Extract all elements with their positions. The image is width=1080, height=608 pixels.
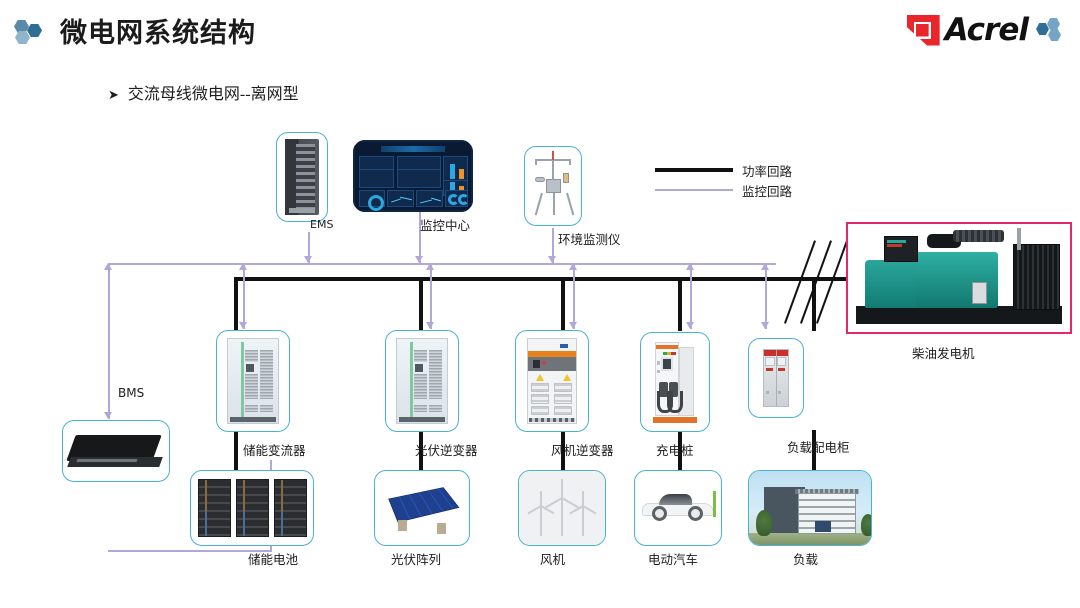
device-monitoring-center[interactable] (353, 140, 473, 212)
pv-inverter-cabinet-icon (396, 338, 448, 424)
caption-pv-inverter: 光伏逆变器 (415, 440, 478, 459)
arrow-windinv-down-icon (569, 322, 577, 329)
diesel-generator-icon (852, 228, 1066, 328)
device-electric-vehicle[interactable] (634, 470, 722, 546)
legend-label-power: 功率回路 (742, 161, 792, 180)
arrow-charger-up-icon (686, 263, 694, 270)
subtitle-text: 交流母线微电网--离网型 (128, 86, 299, 103)
wire-charger-monitor (690, 263, 692, 329)
acrel-mark-icon (907, 15, 940, 46)
pcs-cabinet-icon (227, 338, 279, 424)
slide-root: 微电网系统结构 Acrel ➤交流母线微电网--离网型 功率回路 监控回路 (0, 0, 1080, 608)
caption-ems: EMS (310, 218, 333, 231)
wire-power-charger (678, 277, 682, 331)
caption-wind-inverter: 风机逆变器 (551, 440, 614, 459)
caption-load-cabinet: 负载配电柜 (787, 437, 850, 456)
page-title: 微电网系统结构 (60, 11, 256, 50)
wire-windinv-monitor (573, 263, 575, 329)
legend: 功率回路 监控回路 (655, 160, 792, 200)
caption-battery: 储能电池 (248, 549, 298, 568)
wire-power-loadcab (812, 277, 816, 331)
load-cabinet-icon (763, 349, 789, 407)
arrow-bullet-icon: ➤ (108, 87, 119, 102)
device-battery[interactable] (190, 470, 314, 546)
wire-bms-vertical (108, 263, 110, 419)
acrel-hex-icon (1036, 18, 1062, 42)
device-ems[interactable] (276, 132, 328, 222)
device-charging-pile[interactable] (640, 332, 710, 432)
arrow-charger-down-icon (686, 322, 694, 329)
title-bullet-icon (14, 20, 48, 46)
caption-monitoring-center: 监控中心 (420, 215, 470, 234)
caption-electric-vehicle: 电动汽车 (648, 549, 698, 568)
wind-inverter-cabinet-icon (527, 338, 577, 424)
device-wind-turbine[interactable] (518, 470, 606, 546)
legend-line-power-icon (655, 168, 733, 172)
caption-load-building: 负载 (793, 549, 818, 568)
caption-bms: BMS (118, 386, 144, 400)
arrow-bms-up-icon (104, 263, 112, 270)
monitoring-bus-line (108, 263, 776, 265)
building-icon (749, 471, 871, 545)
arrow-pvinv-down-icon (426, 322, 434, 329)
power-bus-line (234, 277, 814, 281)
device-diesel-generator[interactable] (846, 222, 1072, 334)
arrow-pcs-up-icon (239, 263, 247, 270)
device-pv-array[interactable] (374, 470, 470, 546)
device-wind-inverter[interactable] (515, 330, 589, 432)
legend-line-monitor-icon (655, 189, 733, 191)
section-subtitle: ➤交流母线微电网--离网型 (108, 80, 299, 104)
device-environment-monitor[interactable] (524, 146, 582, 226)
wire-pcs-monitor (243, 263, 245, 329)
device-pv-inverter[interactable] (385, 330, 459, 432)
acrel-wordmark: Acrel (945, 12, 1028, 48)
arrow-windinv-up-icon (569, 263, 577, 270)
legend-label-monitor: 监控回路 (742, 181, 792, 200)
electric-car-icon (642, 493, 714, 523)
wire-power-windinv (561, 277, 565, 331)
wind-turbine-icon (519, 471, 605, 545)
dashboard-screen-icon (353, 140, 473, 212)
arrow-loadcab-up-icon (761, 263, 769, 270)
wire-power-pcs (234, 277, 238, 331)
server-rack-icon (285, 139, 319, 215)
device-bms[interactable] (62, 420, 170, 482)
caption-charging-pile: 充电桩 (656, 440, 694, 459)
arrow-envmon-down-icon (548, 256, 556, 263)
caption-pcs: 储能变流器 (243, 440, 306, 459)
caption-pv-array: 光伏阵列 (391, 549, 441, 568)
wire-pvinv-monitor (430, 263, 432, 329)
caption-diesel-generator: 柴油发电机 (912, 343, 975, 362)
arrow-ems-down-icon (304, 256, 312, 263)
legend-item-monitor: 监控回路 (655, 180, 792, 200)
device-pcs[interactable] (216, 330, 290, 432)
legend-item-power: 功率回路 (655, 160, 792, 180)
arrow-pvinv-up-icon (426, 263, 434, 270)
acrel-logo: Acrel (907, 10, 1062, 50)
caption-environment-monitor: 环境监测仪 (558, 229, 621, 248)
arrow-pcs-down-icon (239, 322, 247, 329)
device-load-building[interactable] (748, 470, 872, 546)
device-load-distribution-cabinet[interactable] (748, 338, 804, 418)
arrow-bms-down-icon (104, 412, 112, 419)
wire-power-pcs-battery (234, 430, 238, 470)
wire-power-pvinv (419, 277, 423, 331)
wire-loadcab-monitor (765, 263, 767, 329)
caption-wind-turbine: 风机 (540, 549, 565, 568)
arrow-center-down-icon (415, 256, 423, 263)
charging-pile-icon (650, 339, 700, 425)
arrow-loadcab-down-icon (761, 322, 769, 329)
